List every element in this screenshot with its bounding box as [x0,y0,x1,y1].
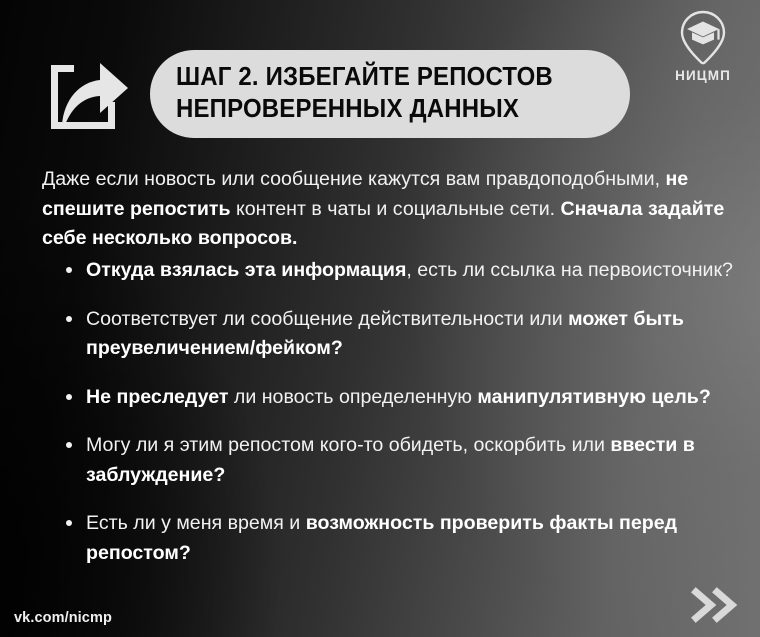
list-item: Есть ли у меня время и возможность прове… [62,509,734,568]
intro-text-part-2: контент в чаты и социальные сети. [231,198,561,220]
list-item-bold-1: Откуда взялась эта информация [86,259,406,281]
page-title-line-2: НЕПРОВЕРЕННЫХ ДАННЫХ [176,93,578,125]
footer-url: vk.com/nicmp [14,610,112,626]
list-item-text-1: Есть ли у меня время и [86,512,306,534]
question-list: Откуда взялась эта информация, есть ли с… [62,256,734,568]
double-chevron-right-icon[interactable] [689,585,743,625]
bullet-dot-icon [66,394,72,400]
share-arrow-icon [44,55,130,133]
list-item-text-1: Соответствует ли сообщение действительно… [86,308,568,330]
page-title: ШАГ 2. ИЗБЕГАЙТЕ РЕПОСТОВ НЕПРОВЕРЕННЫХ … [150,50,630,138]
brand-logo: НИЦМП [664,8,742,83]
list-item: Не преследует ли новость определенную ма… [62,383,734,413]
map-pin-graduation-cap-icon [674,8,732,66]
list-item-bold-1: Не преследует [86,386,228,408]
bullet-dot-icon [66,316,72,322]
page-title-line-1: ШАГ 2. ИЗБЕГАЙТЕ РЕПОСТОВ [176,61,578,93]
list-item-text-1: ли новость определенную [228,386,477,408]
list-item: Откуда взялась эта информация, есть ли с… [62,256,734,286]
intro-paragraph: Даже если новость или сообщение кажутся … [42,165,732,254]
list-item: Соответствует ли сообщение действительно… [62,305,734,364]
header: ШАГ 2. ИЗБЕГАЙТЕ РЕПОСТОВ НЕПРОВЕРЕННЫХ … [0,0,760,150]
list-item-text-1: Могу ли я этим репостом кого-то обидеть,… [86,434,610,456]
slide-canvas: ШАГ 2. ИЗБЕГАЙТЕ РЕПОСТОВ НЕПРОВЕРЕННЫХ … [0,0,760,637]
list-item-bold-2: манипулятивную цель? [477,386,710,408]
bullet-dot-icon [66,267,72,273]
brand-logo-label: НИЦМП [664,68,742,83]
bullet-dot-icon [66,520,72,526]
intro-text-part-1: Даже если новость или сообщение кажутся … [42,168,665,190]
list-item: Могу ли я этим репостом кого-то обидеть,… [62,431,734,490]
list-item-text-1: , есть ли ссылка на первоисточник? [406,259,733,281]
bullet-dot-icon [66,442,72,448]
